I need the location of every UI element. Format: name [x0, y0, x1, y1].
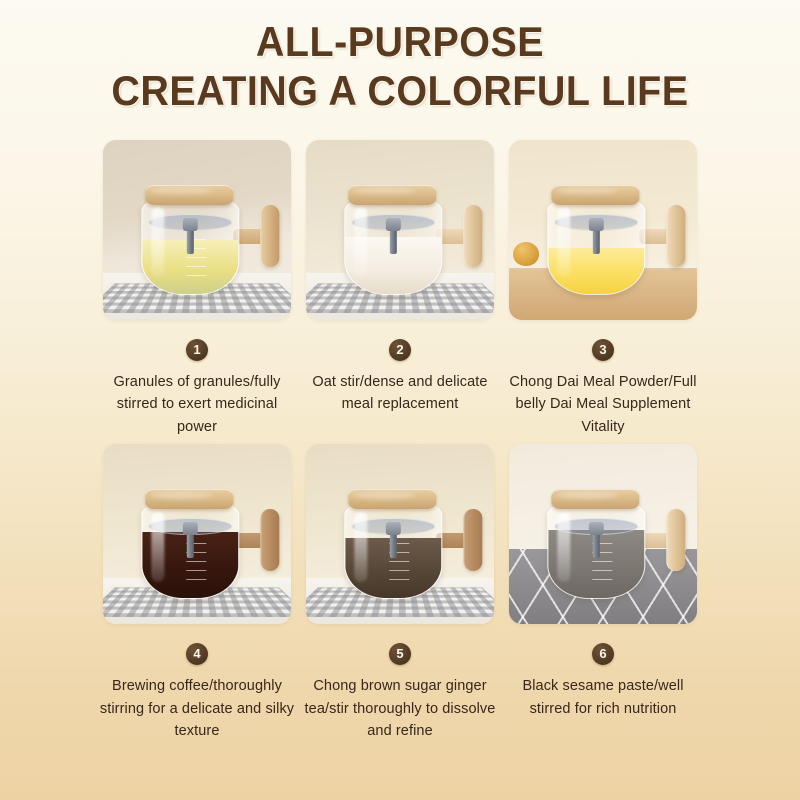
grid-row-bottom: 4 Brewing coffee/thoroughly stirring for…	[0, 444, 800, 742]
handle-grip	[463, 205, 482, 267]
orange-fruit	[513, 242, 539, 266]
stirring-mug	[141, 491, 237, 599]
stirring-head	[386, 218, 401, 231]
use-case-card-2[interactable]: 2 Oat stir/dense and delicate meal repla…	[306, 140, 494, 438]
glass-body	[344, 505, 442, 599]
glass-highlight	[557, 512, 570, 582]
glass-highlight	[151, 207, 164, 277]
handle-grip	[666, 509, 685, 571]
stirring-head	[589, 522, 604, 535]
card-caption: Brewing coffee/thoroughly stirring for a…	[97, 675, 297, 742]
stirring-mug	[547, 491, 643, 599]
product-use-case-grid: 1 Granules of granules/fully stirred to …	[0, 140, 800, 743]
step-badge: 6	[592, 643, 614, 665]
card-caption: Black sesame paste/well stirred for rich…	[503, 675, 703, 720]
glass-highlight	[557, 207, 570, 277]
step-badge: 4	[186, 643, 208, 665]
page-title: ALL-PURPOSE CREATING A COLORFUL LIFE	[0, 0, 800, 114]
product-photo-3	[509, 140, 697, 320]
wooden-handle	[233, 205, 279, 267]
use-case-card-4[interactable]: 4 Brewing coffee/thoroughly stirring for…	[103, 444, 291, 742]
stirring-mug	[344, 491, 440, 599]
wooden-lid	[551, 185, 639, 205]
glass-body	[547, 201, 645, 295]
step-badge: 1	[186, 339, 208, 361]
stirring-mug	[344, 187, 440, 295]
wooden-handle	[436, 509, 482, 571]
product-photo-2	[306, 140, 494, 320]
card-caption: Chong Dai Meal Powder/Full belly Dai Mea…	[503, 371, 703, 438]
glass-body	[141, 505, 239, 599]
use-case-card-3[interactable]: 3 Chong Dai Meal Powder/Full belly Dai M…	[509, 140, 697, 438]
glass-highlight	[354, 512, 367, 582]
title-line-secondary: CREATING A COLORFUL LIFE	[24, 67, 776, 114]
glass-body	[141, 201, 239, 295]
grid-row-top: 1 Granules of granules/fully stirred to …	[0, 140, 800, 438]
product-photo-6	[509, 444, 697, 624]
product-photo-1	[103, 140, 291, 320]
step-badge: 3	[592, 339, 614, 361]
use-case-card-6[interactable]: 6 Black sesame paste/well stirred for ri…	[509, 444, 697, 742]
handle-grip	[463, 509, 482, 571]
product-photo-4	[103, 444, 291, 624]
wooden-lid	[348, 185, 436, 205]
wooden-lid	[551, 489, 639, 509]
glass-body	[547, 505, 645, 599]
glass-body	[344, 201, 442, 295]
wooden-lid	[145, 489, 233, 509]
stirring-head	[183, 522, 198, 535]
handle-grip	[260, 205, 279, 267]
glass-highlight	[151, 512, 164, 582]
card-caption: Granules of granules/fully stirred to ex…	[97, 371, 297, 438]
stirring-mug	[547, 187, 643, 295]
card-caption: Oat stir/dense and delicate meal replace…	[300, 371, 500, 416]
stirring-mug	[141, 187, 237, 295]
wooden-handle	[436, 205, 482, 267]
wooden-handle	[639, 509, 685, 571]
use-case-card-1[interactable]: 1 Granules of granules/fully stirred to …	[103, 140, 291, 438]
stirring-head	[183, 218, 198, 231]
title-line-primary: ALL-PURPOSE	[24, 18, 776, 65]
wooden-lid	[145, 185, 233, 205]
product-photo-5	[306, 444, 494, 624]
wooden-handle	[233, 509, 279, 571]
card-caption: Chong brown sugar ginger tea/stir thorou…	[300, 675, 500, 742]
stirring-head	[386, 522, 401, 535]
infographic-page: ALL-PURPOSE CREATING A COLORFUL LIFE	[0, 0, 800, 800]
step-badge: 5	[389, 643, 411, 665]
wooden-lid	[348, 489, 436, 509]
handle-grip	[260, 509, 279, 571]
stirring-head	[589, 218, 604, 231]
use-case-card-5[interactable]: 5 Chong brown sugar ginger tea/stir thor…	[306, 444, 494, 742]
handle-grip	[666, 205, 685, 267]
wooden-handle	[639, 205, 685, 267]
step-badge: 2	[389, 339, 411, 361]
glass-highlight	[354, 207, 367, 277]
